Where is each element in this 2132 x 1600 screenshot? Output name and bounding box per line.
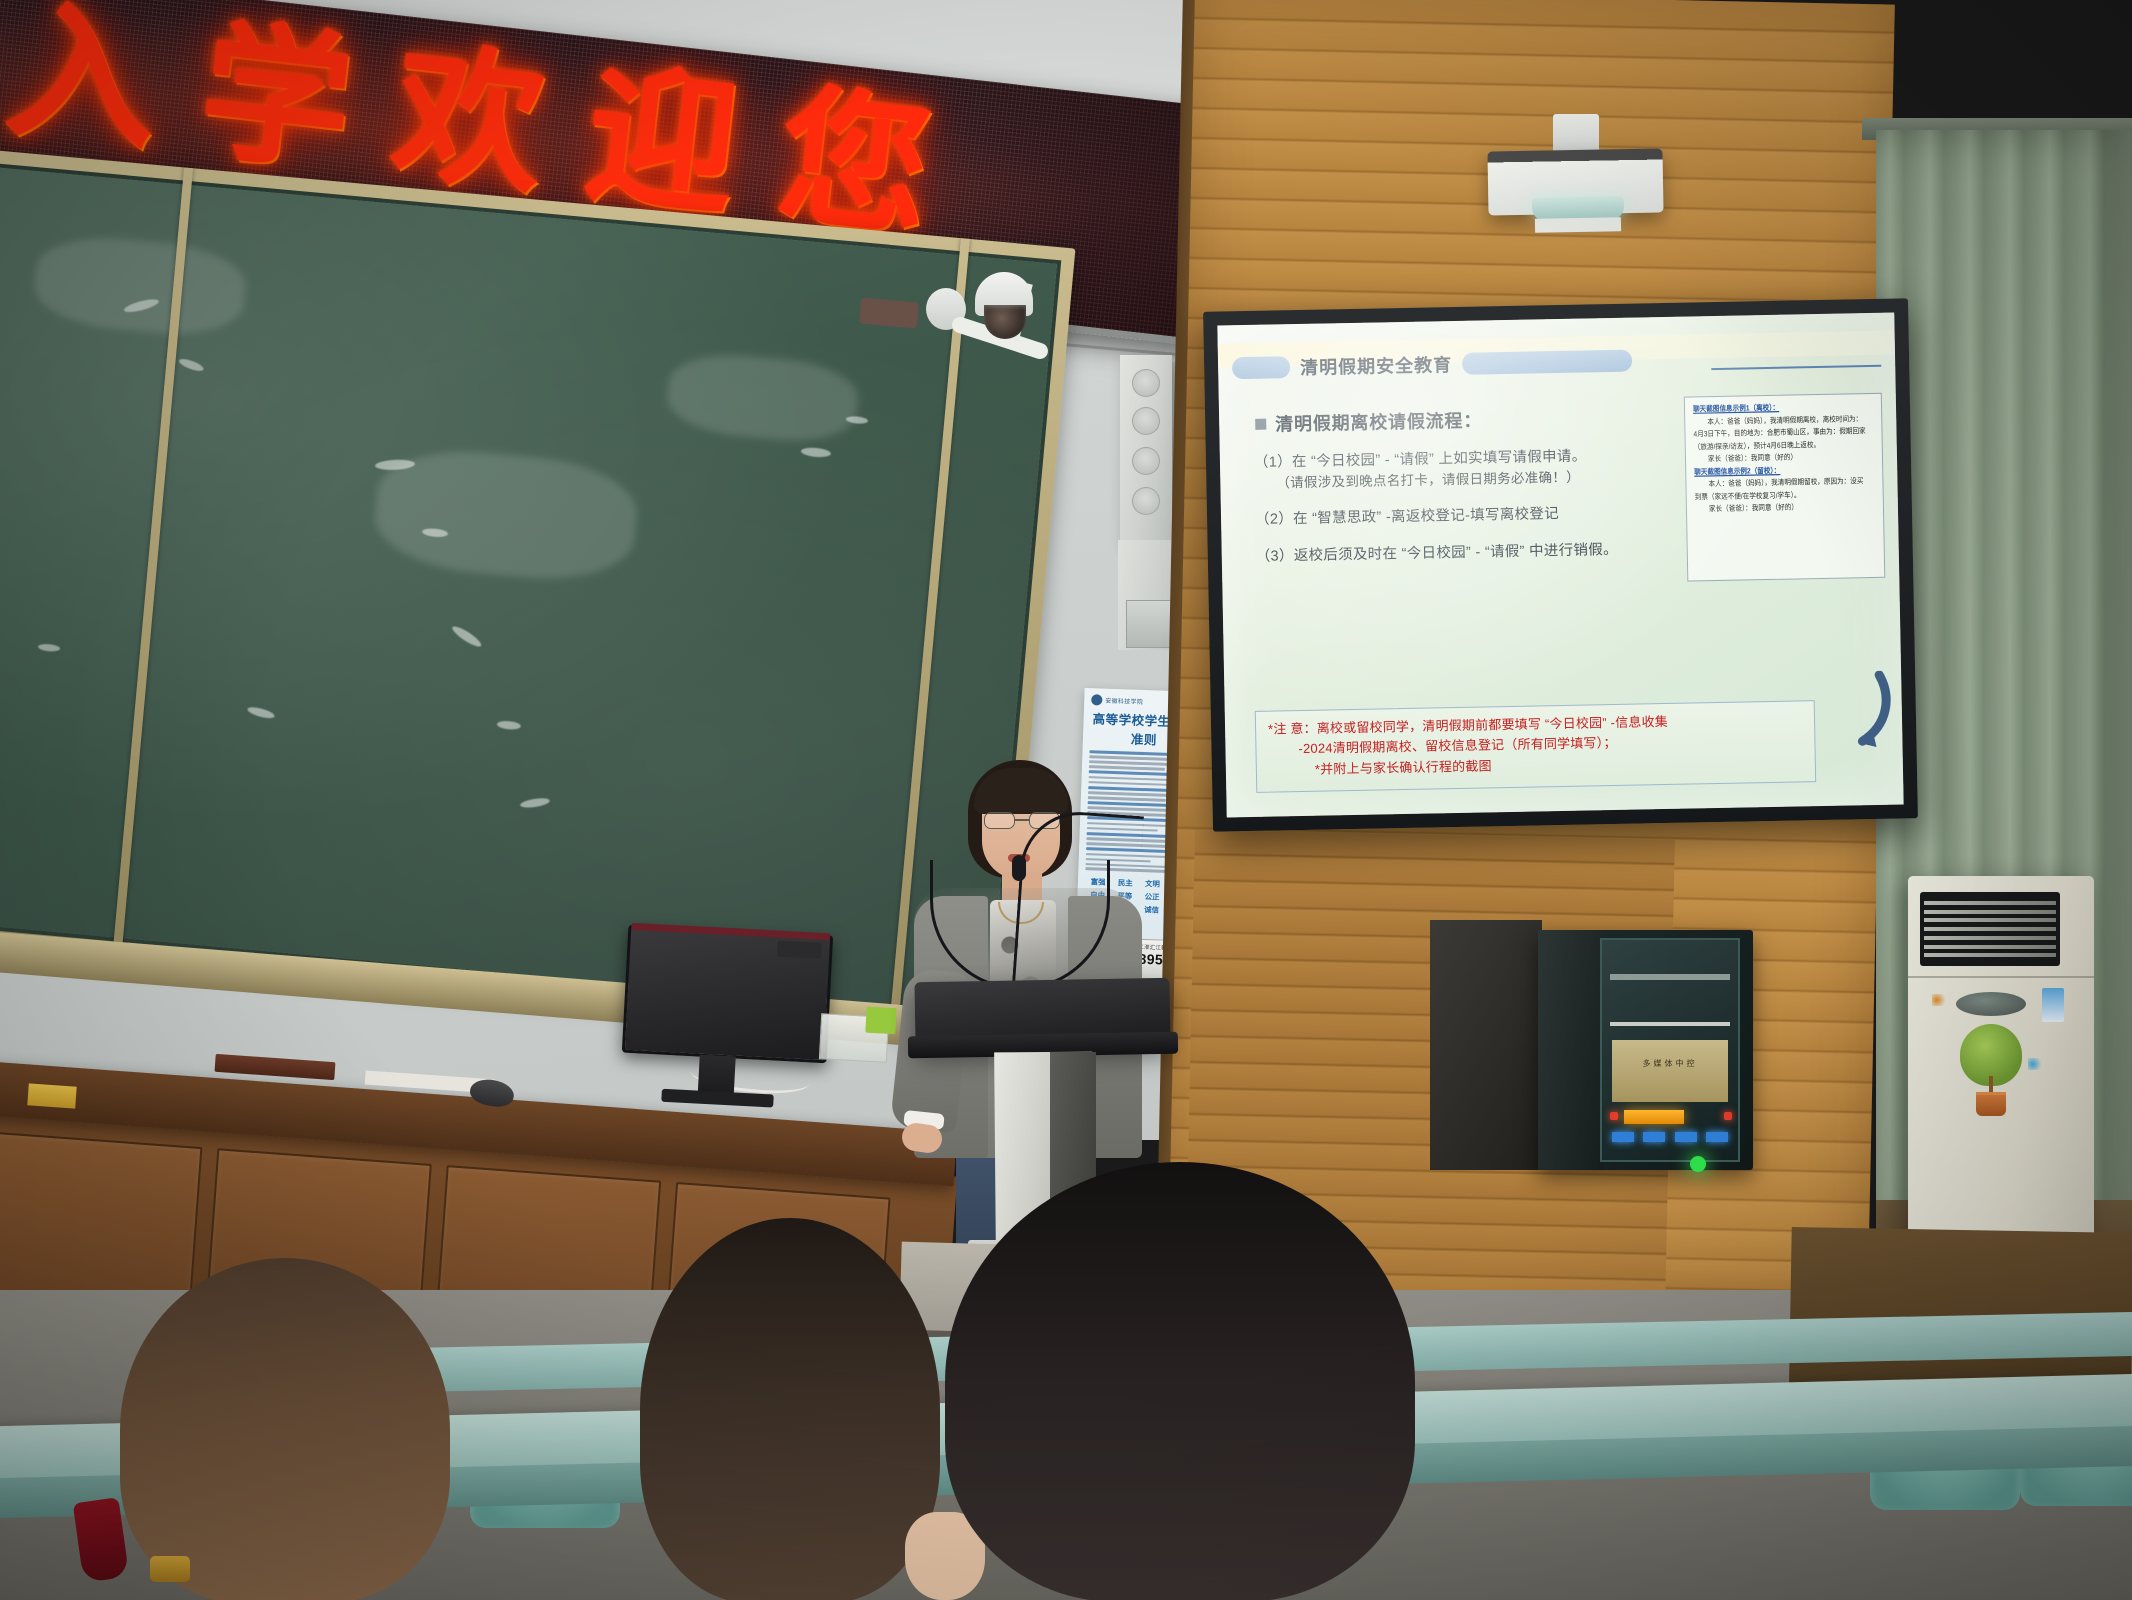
student-head bbox=[120, 1258, 450, 1600]
slide-content: 清明假期安全教育 清明假期离校请假流程： （1）在 “今日校园” - “请假” … bbox=[1217, 313, 1903, 818]
projection-screen: 清明假期安全教育 清明假期离校请假流程： （1）在 “今日校园” - “请假” … bbox=[1203, 298, 1918, 831]
ac-energy-label bbox=[2042, 988, 2064, 1022]
inset-line: 家长（爸爸）：我同意（好的） bbox=[1695, 500, 1875, 518]
curved-arrow-icon bbox=[1821, 671, 1895, 754]
ac-panel-seam bbox=[1908, 976, 2094, 978]
wall-junction-box bbox=[1126, 600, 1172, 648]
blue-indicator-row bbox=[1612, 1132, 1728, 1142]
slide-bullet-heading: 清明假期离校请假流程： bbox=[1255, 406, 1482, 436]
student-head bbox=[945, 1162, 1415, 1600]
status-led-blue bbox=[1643, 1132, 1665, 1142]
presenter-hair-front bbox=[974, 768, 1068, 814]
amplifier-unit: 多媒体中控 bbox=[1612, 1040, 1728, 1102]
plant-pot bbox=[1976, 1092, 2006, 1116]
butterfly-sticker-icon bbox=[2028, 1058, 2044, 1070]
ac-vent-grille bbox=[1920, 892, 2060, 966]
butterfly-sticker-icon bbox=[1932, 994, 1948, 1006]
university-seal-icon bbox=[1091, 694, 1102, 705]
chalk-holder-box bbox=[819, 1013, 889, 1062]
student-head bbox=[640, 1218, 940, 1600]
poster-university-name: 安徽科技学院 bbox=[1105, 696, 1143, 706]
student-hair bbox=[945, 1162, 1415, 1600]
chat-example-inset: 聊天截图信息示例1（离校）： 本人：爸爸（妈妈），我清明假期离校，离校时间为： … bbox=[1684, 393, 1886, 582]
cabinet-glass-door[interactable]: 多媒体中控 bbox=[1600, 938, 1740, 1162]
title-pill-right bbox=[1462, 350, 1632, 375]
slide-step-1: （1）在 “今日校园” - “请假” 上如实填写请假申请。 （请假涉及到晚点名打… bbox=[1254, 445, 1655, 493]
bullet-heading-text: 清明假期离校请假流程： bbox=[1275, 406, 1482, 436]
status-led-blue bbox=[1706, 1132, 1728, 1142]
desktop-monitor bbox=[622, 925, 833, 1064]
student-hair bbox=[640, 1218, 940, 1600]
equipment-rack bbox=[1430, 920, 1542, 1170]
status-led-blue bbox=[1675, 1132, 1697, 1142]
ac-display-panel bbox=[1956, 992, 2026, 1016]
amplifier-display bbox=[1624, 1110, 1684, 1124]
slide-step-2: （2）在 “智慧思政” -离返校登记-填写离校登记 bbox=[1255, 502, 1655, 531]
wall-bracket bbox=[859, 298, 919, 329]
status-led-blue bbox=[1612, 1132, 1634, 1142]
cabinet-shelf bbox=[1610, 974, 1730, 980]
square-bullet-icon bbox=[1255, 418, 1266, 429]
wall-speaker bbox=[1120, 355, 1172, 545]
cabinet-side-panel bbox=[1538, 930, 1604, 1170]
desk-item-yellow-box bbox=[27, 1083, 76, 1108]
status-led-red bbox=[1610, 1112, 1618, 1120]
status-led-green bbox=[1690, 1156, 1706, 1172]
slide-title: 清明假期安全教育 bbox=[1300, 351, 1452, 380]
slide-step-3: （3）返校后须及时在 “今日校园” - “请假” 中进行销假。 bbox=[1256, 539, 1656, 568]
monitor-brand-logo bbox=[777, 941, 822, 959]
monitor-back-panel bbox=[622, 925, 833, 1064]
hair-clip-icon bbox=[150, 1556, 190, 1582]
student-hair bbox=[120, 1258, 450, 1600]
slide-note-box: *注 意：离校或留校同学，清明假期前都要填写 “今日校园” -信息收集 -202… bbox=[1255, 700, 1816, 793]
av-control-cabinet[interactable]: 多媒体中控 bbox=[1538, 930, 1753, 1170]
projector-foot bbox=[1535, 217, 1621, 232]
classroom-photo-scene: 入学欢迎您 bbox=[0, 0, 2132, 1600]
slide-steps-list: （1）在 “今日校园” - “请假” 上如实填写请假申请。 （请假涉及到晚点名打… bbox=[1254, 445, 1656, 567]
step-1-subtext: （请假涉及到晚点名打卡，请假日期务必准确！） bbox=[1254, 466, 1654, 493]
amplifier-label: 多媒体中控 bbox=[1612, 1040, 1728, 1069]
title-pill-left bbox=[1232, 356, 1290, 379]
status-led-red bbox=[1724, 1112, 1732, 1120]
cabinet-shelf bbox=[1610, 1022, 1730, 1026]
